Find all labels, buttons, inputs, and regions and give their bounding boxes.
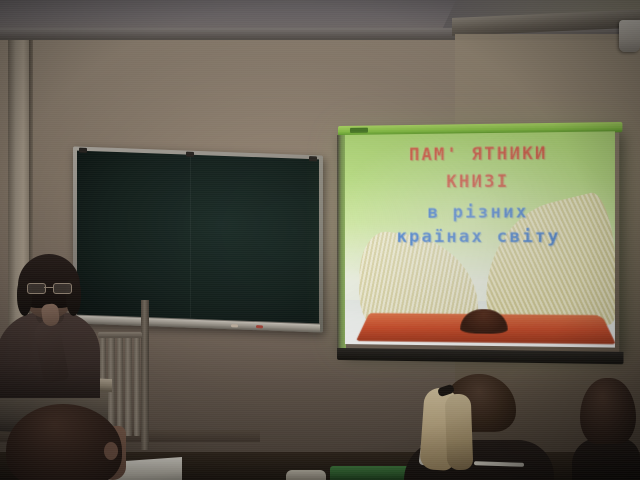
student-hair <box>6 404 122 480</box>
chalkboard-clip <box>186 152 194 157</box>
glasses-lens <box>27 283 46 294</box>
slide-line-3: в різних <box>345 202 615 223</box>
student-ponytail-strand <box>445 394 474 471</box>
slide-line-1: ПАМ' ЯТНИКИ <box>345 144 615 167</box>
presentation-slide: ПАМ' ЯТНИКИ КНИЗІ в різних країнах світу <box>345 131 615 347</box>
chalk-piece <box>231 324 238 327</box>
student-ear <box>104 442 118 460</box>
screen-top-tab <box>350 128 368 133</box>
student-foreground-left <box>0 404 150 480</box>
chalkboard <box>73 146 323 332</box>
student-right <box>576 378 640 480</box>
student-body <box>572 438 640 480</box>
projection-screen: ПАМ' ЯТНИКИ КНИЗІ в різних країнах світу <box>341 127 619 354</box>
student-desk-edge <box>286 470 326 480</box>
wall-lamp-icon <box>619 20 640 52</box>
glasses-icon <box>27 283 71 292</box>
chalk-piece <box>256 325 263 328</box>
classroom-scene: ПАМ' ЯТНИКИ КНИЗІ в різних країнах світу <box>0 0 640 480</box>
student-hair <box>580 378 636 444</box>
slide-line-2: КНИЗІ <box>345 172 615 194</box>
chalkboard-clip <box>309 156 317 161</box>
chalkboard-surface <box>77 151 319 324</box>
teacher-seated <box>0 250 108 395</box>
student-ponytail <box>404 374 564 480</box>
chalkboard-clip <box>79 148 87 153</box>
slide-line-4: країнах світу <box>345 228 615 248</box>
glasses-lens <box>53 283 72 294</box>
glasses-bridge <box>44 287 53 288</box>
chalkboard-seam <box>190 156 191 318</box>
slide-title-block: ПАМ' ЯТНИКИ КНИЗІ в різних країнах світу <box>345 144 615 253</box>
